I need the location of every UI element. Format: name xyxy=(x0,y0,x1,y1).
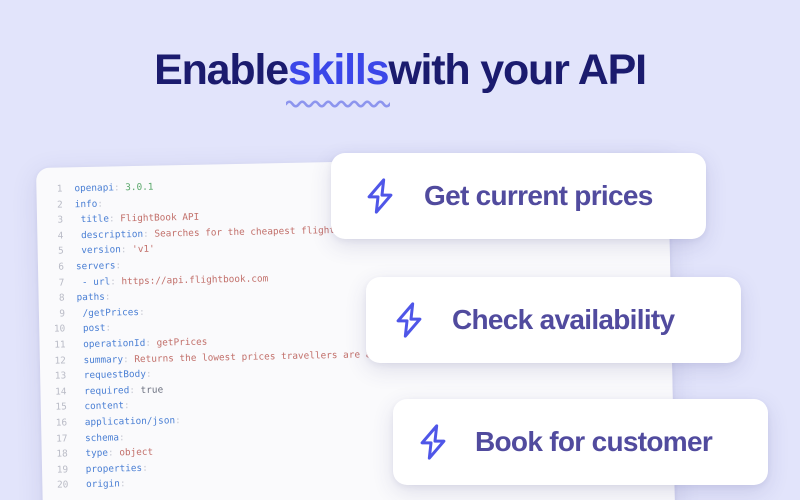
code-token-colon: : xyxy=(175,415,181,426)
code-line-number: 7 xyxy=(38,275,64,291)
code-token-colon: : xyxy=(97,198,103,209)
code-token-key: openapi xyxy=(74,182,114,194)
skill-card-get-current-prices[interactable]: Get current prices xyxy=(331,153,706,239)
code-line-number: 13 xyxy=(40,369,66,385)
code-token-colon: : xyxy=(142,463,148,474)
code-token-key: operationId xyxy=(83,338,145,350)
code-token-key: info xyxy=(75,198,98,209)
skill-card-label: Book for customer xyxy=(475,426,712,458)
code-line-number: 2 xyxy=(37,197,63,213)
page-title: Enable skills with your API xyxy=(0,44,800,96)
code-token-value: 'v1' xyxy=(126,244,154,256)
code-line-number: 20 xyxy=(42,478,68,494)
code-token-value: 3.0.1 xyxy=(119,182,153,194)
code-token-colon: : xyxy=(119,432,125,443)
code-token-value: FlightBook API xyxy=(114,212,199,225)
code-token-key: description xyxy=(81,229,143,241)
code-line-number: 14 xyxy=(40,384,66,400)
code-token-key: version xyxy=(81,245,121,257)
code-line-number: 15 xyxy=(41,400,67,416)
skill-card-label: Get current prices xyxy=(424,180,653,212)
code-line-number: 12 xyxy=(40,353,66,369)
code-token-key: required xyxy=(84,385,129,397)
lightning-bolt-icon xyxy=(363,177,397,215)
code-token-key: - url xyxy=(82,276,110,288)
code-token-colon: : xyxy=(124,400,130,411)
page-title-part-2: with your API xyxy=(388,44,646,96)
code-line-number: 19 xyxy=(42,462,68,478)
code-line-number: 16 xyxy=(41,415,67,431)
code-token-value: getPrices xyxy=(151,337,208,349)
code-token-key: schema xyxy=(85,432,119,444)
code-token-key: title xyxy=(81,214,109,226)
code-token-colon: : xyxy=(146,369,152,380)
code-line-number: 6 xyxy=(38,259,64,275)
skill-card-label: Check availability xyxy=(452,304,674,336)
wavy-underline-icon xyxy=(286,98,390,108)
code-line-number: 4 xyxy=(37,228,63,244)
skill-card-book-for-customer[interactable]: Book for customer xyxy=(393,399,768,485)
code-line-number: 10 xyxy=(39,322,65,338)
code-token-key: summary xyxy=(83,354,123,366)
code-line-number: 18 xyxy=(42,447,68,463)
code-token-key: /getPrices xyxy=(82,307,139,319)
code-token-key: paths xyxy=(77,292,105,304)
code-line-number: 5 xyxy=(38,244,64,260)
code-token-colon: : xyxy=(105,292,111,303)
page-title-part-1: Enable xyxy=(154,44,288,96)
code-line-number: 9 xyxy=(39,306,65,322)
code-token-value: true xyxy=(135,384,163,396)
code-line-number: 11 xyxy=(39,337,65,353)
code-token-colon: : xyxy=(139,307,145,318)
slide-canvas: Enable skills with your API 1openapi: 3.… xyxy=(0,0,800,500)
code-token-key: origin xyxy=(86,479,120,491)
code-token-colon: : xyxy=(105,323,111,334)
code-token-colon: : xyxy=(120,479,126,490)
page-title-accent-text: skills xyxy=(288,46,388,94)
skill-card-check-availability[interactable]: Check availability xyxy=(366,277,741,363)
code-token-colon: : xyxy=(115,260,121,271)
code-token-value: object xyxy=(114,447,154,459)
lightning-bolt-icon xyxy=(392,301,426,339)
code-line-number: 1 xyxy=(36,181,62,197)
code-token-key: properties xyxy=(86,463,143,475)
code-line-number: 3 xyxy=(37,213,63,229)
code-token-value: https://api.flightbook.com xyxy=(116,273,269,287)
page-title-accent-word: skills xyxy=(288,44,388,96)
code-token-key: servers xyxy=(76,260,116,272)
code-token-key: post xyxy=(83,323,106,334)
lightning-bolt-icon xyxy=(416,423,450,461)
code-token-key: requestBody xyxy=(84,369,146,381)
code-token-key: type xyxy=(85,448,108,459)
code-line-number: 17 xyxy=(41,431,67,447)
code-token-key: content xyxy=(84,401,124,413)
code-token-key: application/json xyxy=(85,415,176,428)
code-line-number: 8 xyxy=(38,291,64,307)
